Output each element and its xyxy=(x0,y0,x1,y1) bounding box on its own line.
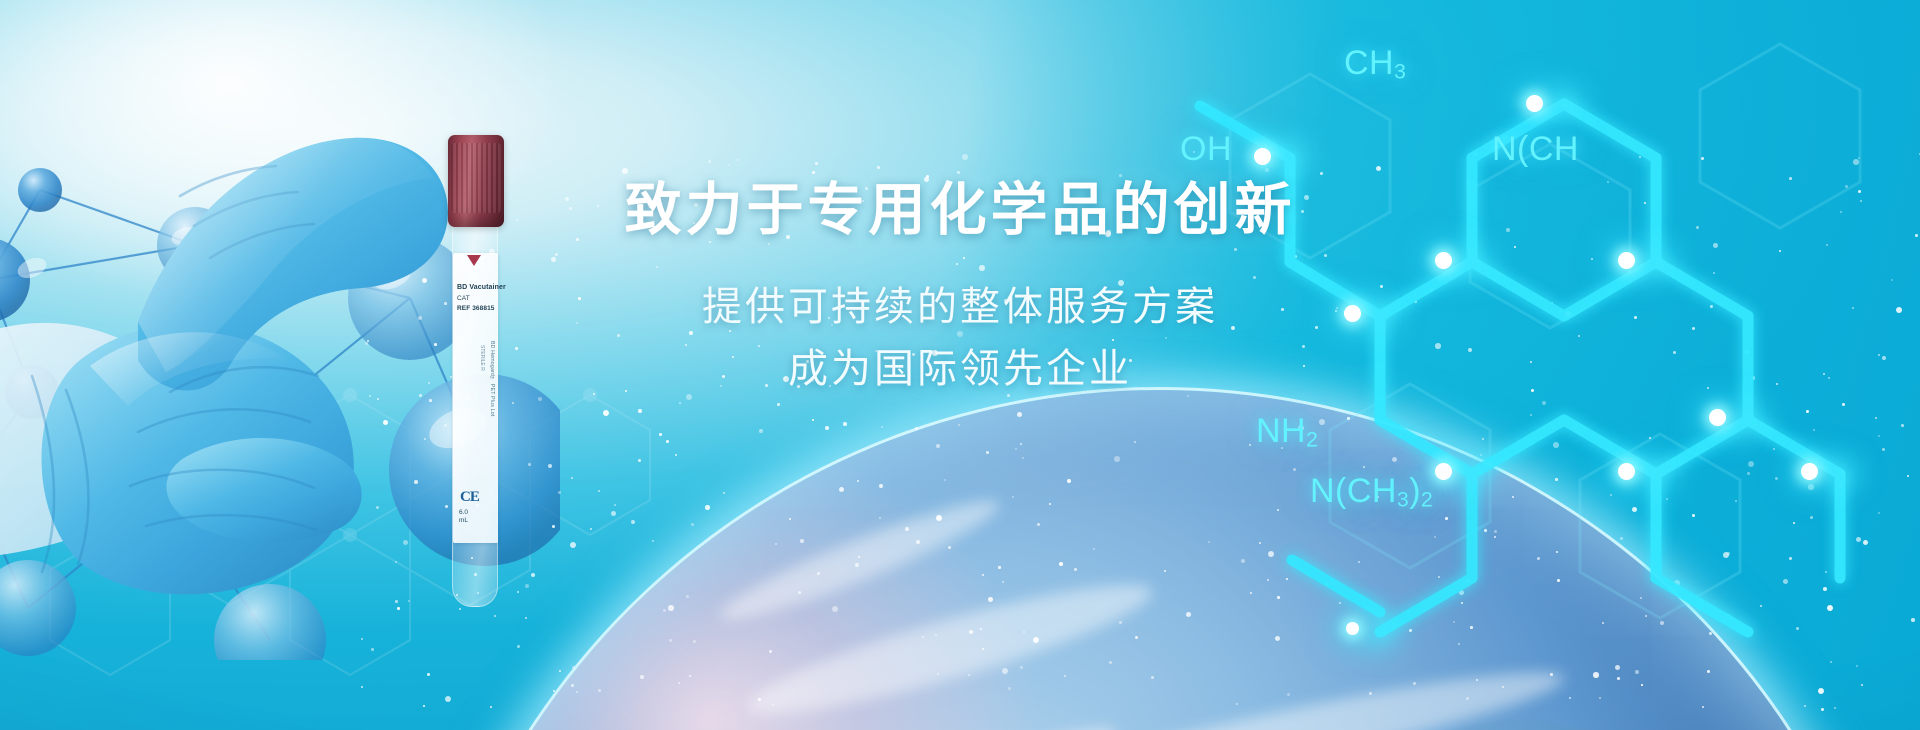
background-vignette xyxy=(0,0,1920,730)
hero-banner: CH3 OH N(CH NH2 N(CH3)2 xyxy=(0,0,1920,730)
